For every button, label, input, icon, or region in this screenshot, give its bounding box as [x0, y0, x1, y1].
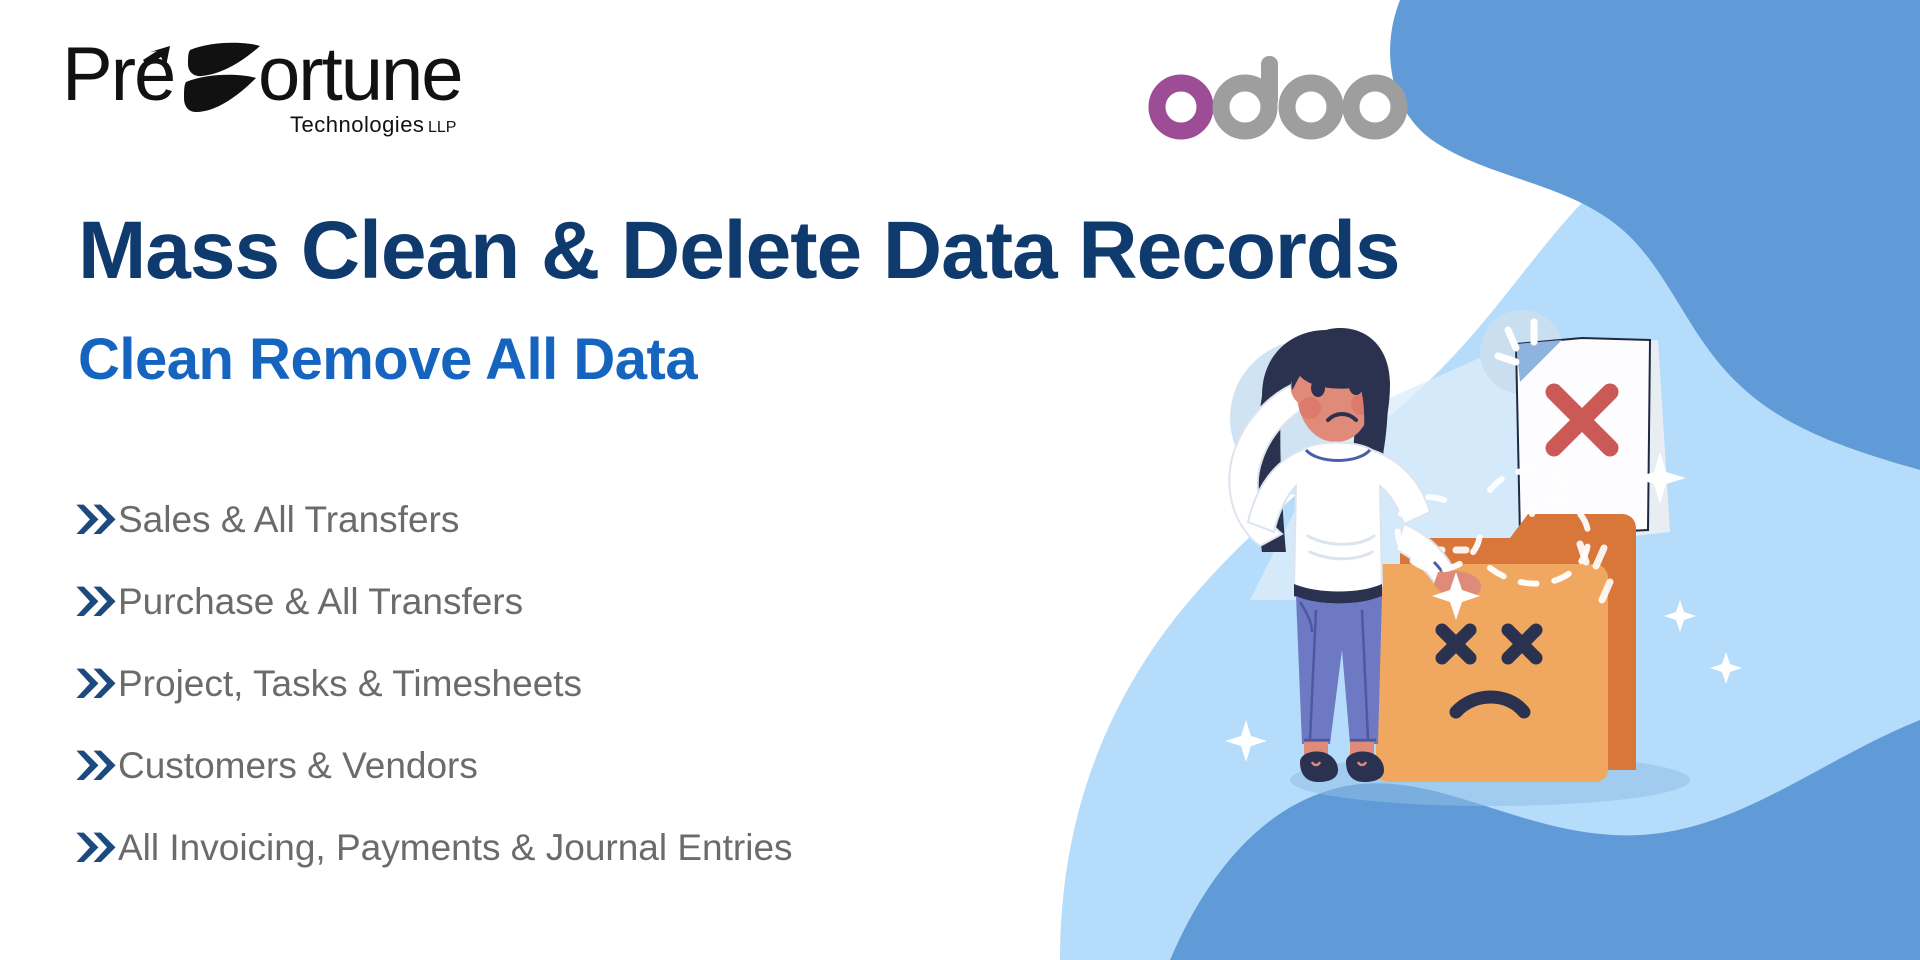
folder-front-panel	[1376, 564, 1608, 782]
prefortune-logo: Pre ortune Technologies LLP	[62, 28, 482, 138]
list-item: Project, Tasks & Timesheets	[74, 642, 1134, 724]
odoo-letter-o2	[1287, 83, 1335, 131]
page-subtitle: Clean Remove All Data	[78, 330, 697, 391]
brand-tagline-suffix: LLP	[428, 119, 456, 136]
odoo-letter-o1	[1157, 83, 1205, 131]
leaf-f-icon	[184, 43, 260, 112]
shoe-left	[1300, 751, 1338, 782]
double-chevron-right-icon	[74, 583, 118, 620]
odoo-letter-d	[1221, 56, 1278, 131]
document-front-sheet	[1516, 338, 1650, 536]
list-item: Sales & All Transfers	[74, 478, 1134, 560]
cheek-left	[1299, 397, 1321, 419]
list-item: Customers & Vendors	[74, 724, 1134, 806]
list-item-label: Customers & Vendors	[118, 747, 478, 784]
rejected-document	[1516, 338, 1670, 544]
brand-name-part-1: Pre	[62, 32, 174, 117]
odoo-letter-o3	[1351, 83, 1399, 131]
list-item-label: All Invoicing, Payments & Journal Entrie…	[118, 829, 793, 866]
list-item-label: Sales & All Transfers	[118, 501, 459, 538]
page-title: Mass Clean & Delete Data Records	[78, 208, 1400, 294]
double-chevron-right-icon	[74, 747, 118, 784]
list-item-label: Purchase & All Transfers	[118, 583, 523, 620]
list-item: All Invoicing, Payments & Journal Entrie…	[74, 806, 1134, 888]
odoo-logo	[1148, 48, 1408, 138]
feature-list: Sales & All Transfers Purchase & All Tra…	[74, 478, 1134, 888]
brand-name-part-2: ortune	[258, 32, 462, 117]
double-chevron-right-icon	[74, 501, 118, 538]
list-item-label: Project, Tasks & Timesheets	[118, 665, 582, 702]
brand-tagline: Technologies	[290, 112, 424, 137]
promo-banner: Pre ortune Technologies LLP	[0, 0, 1920, 960]
double-chevron-right-icon	[74, 665, 118, 702]
list-item: Purchase & All Transfers	[74, 560, 1134, 642]
illustration-woman-sad-folder	[1190, 300, 1810, 860]
double-chevron-right-icon	[74, 829, 118, 866]
